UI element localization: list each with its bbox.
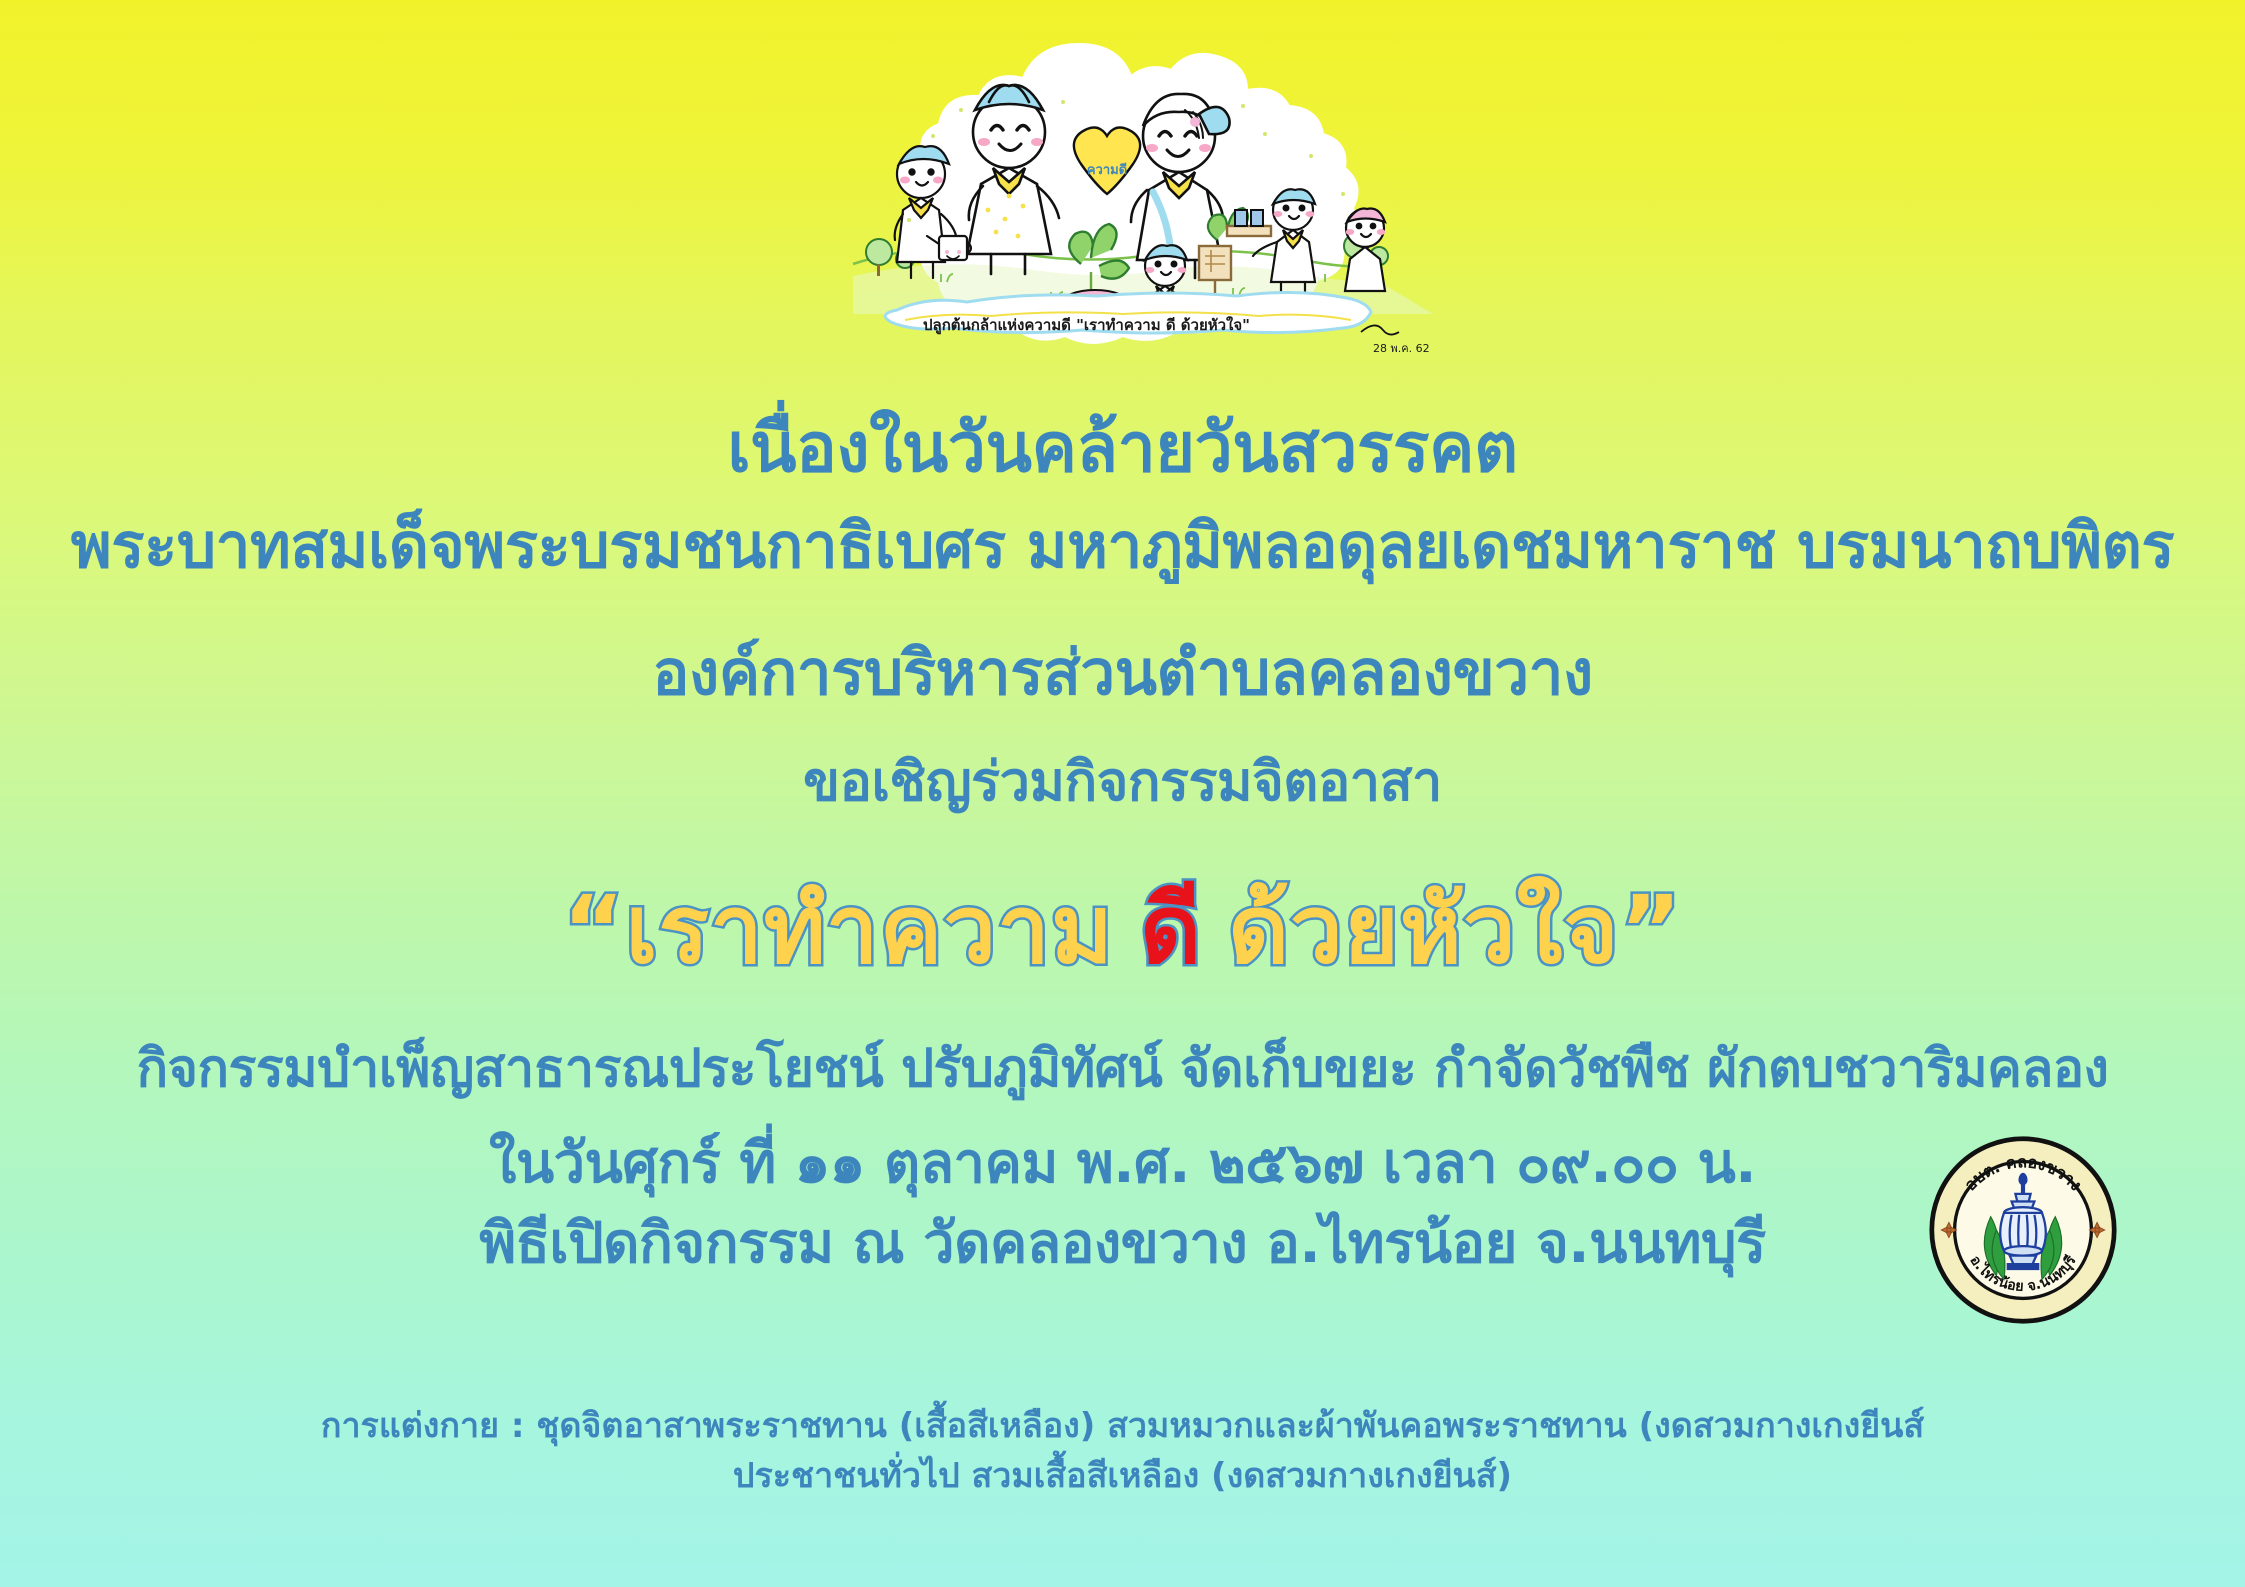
dress_code-line-2: ประชาชนทั่วไป สวมเสื้อสีเหลือง (งดสวมกาง… (0, 1448, 2245, 1502)
slogan-open-quote: “ (563, 876, 626, 985)
volunteer-illustration: ความดี (813, 14, 1433, 359)
heading-line-3: องค์การบริหารส่วนตำบลคลองขวาง (0, 624, 2245, 722)
event-poster: ความดี (0, 0, 2245, 1587)
illustration-signature-date: 28 พ.ค. 62 (1373, 342, 1430, 355)
slogan-close-quote: ” (1620, 876, 1683, 985)
slogan-part-2: ด้วยหัวใจ (1228, 876, 1620, 985)
heading-line-1: เนื่องในวันคล้ายวันสวรรคต (0, 393, 2245, 501)
illustration-caption: ปลูกต้นกล้าแห่งความดี "เราทำความ ดี ด้วย… (923, 316, 1250, 335)
slogan: “เราทำความดีด้วยหัวใจ” (0, 855, 2245, 1004)
venue-line: พิธีเปิดกิจกรรม ณ วัดคลองขวาง อ.ไทรน้อย … (0, 1198, 2245, 1287)
slogan-accent-word: ดี (1140, 876, 1202, 985)
heading-line-2: พระบาทสมเด็จพระบรมชนกาธิเบศร มหาภูมิพลอด… (0, 497, 2245, 595)
slogan-part-1: เราทำความ (625, 876, 1114, 985)
heading-line-4: ขอเชิญร่วมกิจกรรมจิตอาสา (0, 738, 2245, 824)
official-seal: อบต. คลองขวาง อ.ไทรน้อย จ.นนทบุรี (1928, 1135, 2118, 1325)
signature-scribble (1361, 325, 1399, 334)
activities-line: กิจกรรมบำเพ็ญสาธารณประโยชน์ ปรับภูมิทัศน… (0, 1026, 2245, 1109)
heart-label: ความดี (1086, 162, 1126, 178)
dress-code-line-1: การแต่งกาย : ชุดจิตอาสาพระราชทาน (เสื้อส… (0, 1398, 2245, 1452)
datetime-line: ในวันศุกร์ ที่ ๑๑ ตุลาคม พ.ศ. ๒๕๖๗ เวลา … (0, 1118, 2245, 1207)
